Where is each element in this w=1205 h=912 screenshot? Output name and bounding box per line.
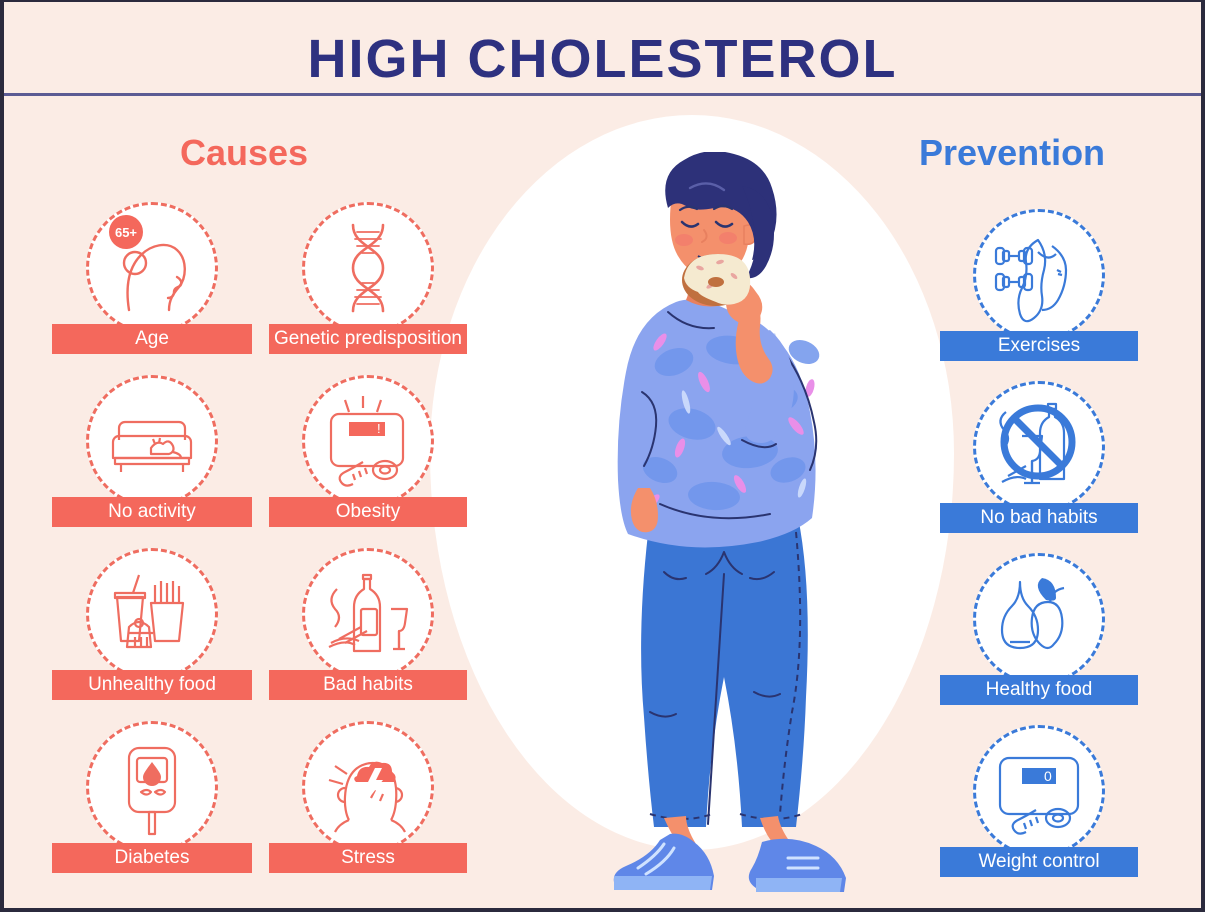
cause-label: Diabetes bbox=[52, 843, 252, 873]
prevention-label: No bad habits bbox=[940, 503, 1138, 533]
infographic-poster: HIGH CHOLESTEROL Causes Prevention 65+ A… bbox=[4, 2, 1201, 908]
icon-circle bbox=[86, 548, 218, 680]
alcohol-cigarette-icon bbox=[305, 551, 431, 677]
glucometer-icon bbox=[89, 724, 215, 850]
stressed-head-icon bbox=[305, 724, 431, 850]
dna-helix-icon bbox=[305, 205, 431, 331]
fast-food-icon bbox=[89, 551, 215, 677]
no-alcohol-smoking-icon bbox=[976, 384, 1102, 510]
bathroom-scale-alert-icon: ! bbox=[305, 378, 431, 504]
icon-circle bbox=[302, 548, 434, 680]
page-title: HIGH CHOLESTEROL bbox=[4, 28, 1201, 90]
head-silhouette-icon bbox=[89, 205, 215, 331]
icon-circle bbox=[973, 209, 1105, 341]
cause-label: Age bbox=[52, 324, 252, 354]
icon-circle bbox=[86, 375, 218, 507]
prevention-heading: Prevention bbox=[919, 132, 1105, 174]
cause-label: Unhealthy food bbox=[52, 670, 252, 700]
icon-circle: 65+ bbox=[86, 202, 218, 334]
cause-label: Bad habits bbox=[269, 670, 467, 700]
age-badge: 65+ bbox=[109, 215, 143, 249]
dumbbells-swimsuit-icon bbox=[976, 212, 1102, 338]
cause-label: Stress bbox=[269, 843, 467, 873]
scale-measuring-tape-icon: 0 bbox=[976, 728, 1102, 854]
cause-label: Genetic predisposition bbox=[269, 324, 467, 354]
icon-circle bbox=[973, 553, 1105, 685]
pear-apple-icon bbox=[976, 556, 1102, 682]
svg-text:0: 0 bbox=[1044, 768, 1052, 784]
donut bbox=[682, 254, 750, 306]
icon-circle: 0 bbox=[973, 725, 1105, 857]
header-divider bbox=[4, 93, 1201, 96]
poster-header: HIGH CHOLESTEROL bbox=[4, 2, 1201, 95]
prevention-label: Weight control bbox=[940, 847, 1138, 877]
woman-eating-donut-illustration bbox=[564, 152, 904, 892]
cause-label: Obesity bbox=[269, 497, 467, 527]
icon-circle bbox=[302, 202, 434, 334]
cause-label: No activity bbox=[52, 497, 252, 527]
icon-circle bbox=[86, 721, 218, 853]
icon-circle: ! bbox=[302, 375, 434, 507]
causes-heading: Causes bbox=[180, 132, 308, 174]
svg-text:!: ! bbox=[377, 421, 381, 436]
icon-circle bbox=[973, 381, 1105, 513]
icon-circle bbox=[302, 721, 434, 853]
prevention-label: Healthy food bbox=[940, 675, 1138, 705]
sofa-cat-icon bbox=[89, 378, 215, 504]
prevention-label: Exercises bbox=[940, 331, 1138, 361]
